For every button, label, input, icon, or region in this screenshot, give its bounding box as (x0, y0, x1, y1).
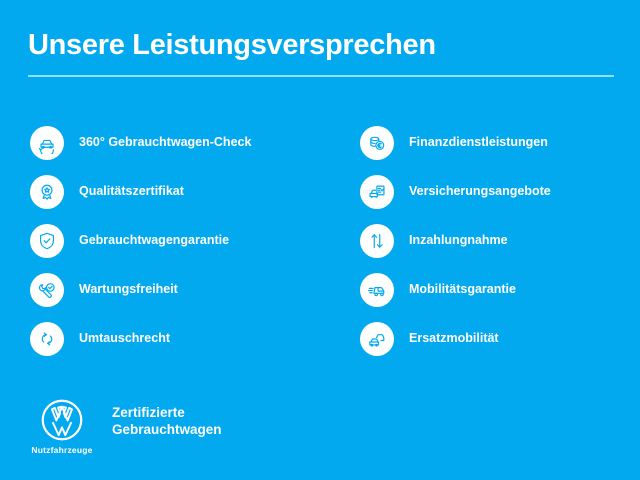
arrows-up-down-icon (360, 224, 394, 258)
feature-label: Ersatzmobilität (409, 331, 499, 346)
feature-item-mobilitaetsgarantie[interactable]: Mobilitätsgarantie (360, 265, 620, 314)
brand-block: Nutzfahrzeuge Zertifizierte Gebrauchtwag… (30, 398, 222, 455)
header: Unsere Leistungsversprechen (28, 28, 614, 77)
feature-item-gebrauchtwagengarantie[interactable]: Gebrauchtwagengarantie (30, 216, 330, 265)
feature-columns: 360° Gebrauchtwagen-Check Qualitätszerti… (0, 118, 640, 363)
feature-label: Inzahlungnahme (409, 233, 508, 248)
volkswagen-logo (40, 398, 84, 442)
feature-item-qualitaetszertifikat[interactable]: Qualitätszertifikat (30, 167, 330, 216)
feature-label: Versicherungsangebote (409, 184, 551, 199)
coins-euro-icon (360, 126, 394, 160)
feature-label: Mobilitätsgarantie (409, 282, 516, 297)
feature-label: Finanzdienstleistungen (409, 135, 548, 150)
car-document-check-icon (360, 175, 394, 209)
feature-label: 360° Gebrauchtwagen-Check (79, 135, 251, 150)
feature-column-right: Finanzdienstleistungen Versicherungsange… (360, 118, 620, 363)
feature-item-inzahlungnahme[interactable]: Inzahlungnahme (360, 216, 620, 265)
two-cars-icon (360, 322, 394, 356)
feature-item-finanzdienstleistungen[interactable]: Finanzdienstleistungen (360, 118, 620, 167)
feature-label: Qualitätszertifikat (79, 184, 184, 199)
feature-label: Umtauschrecht (79, 331, 170, 346)
brand-subtitle: Nutzfahrzeuge (31, 445, 92, 455)
feature-item-umtauschrecht[interactable]: Umtauschrecht (30, 314, 330, 363)
brand-claim: Zertifizierte Gebrauchtwagen (112, 404, 222, 438)
shield-check-icon (30, 224, 64, 258)
feature-item-wartungsfreiheit[interactable]: Wartungsfreiheit (30, 265, 330, 314)
title-divider (28, 75, 614, 77)
feature-label: Wartungsfreiheit (79, 282, 178, 297)
brand-claim-line1: Zertifizierte (112, 404, 222, 421)
feature-item-gebrauchtwagen-check[interactable]: 360° Gebrauchtwagen-Check (30, 118, 330, 167)
feature-item-ersatzmobilitaet[interactable]: Ersatzmobilität (360, 314, 620, 363)
car-360-check-icon (30, 126, 64, 160)
brand-mark: Nutzfahrzeuge (30, 398, 94, 455)
feature-item-versicherungsangebote[interactable]: Versicherungsangebote (360, 167, 620, 216)
feature-label: Gebrauchtwagengarantie (79, 233, 229, 248)
feature-column-left: 360° Gebrauchtwagen-Check Qualitätszerti… (30, 118, 330, 363)
promise-slide: Unsere Leistungsversprechen 360° Gebrauc (0, 0, 640, 480)
award-rosette-icon (30, 175, 64, 209)
page-title: Unsere Leistungsversprechen (28, 28, 614, 62)
brand-claim-line2: Gebrauchtwagen (112, 421, 222, 438)
van-speed-icon (360, 273, 394, 307)
exchange-arrows-icon (30, 322, 64, 356)
wrench-check-icon (30, 273, 64, 307)
